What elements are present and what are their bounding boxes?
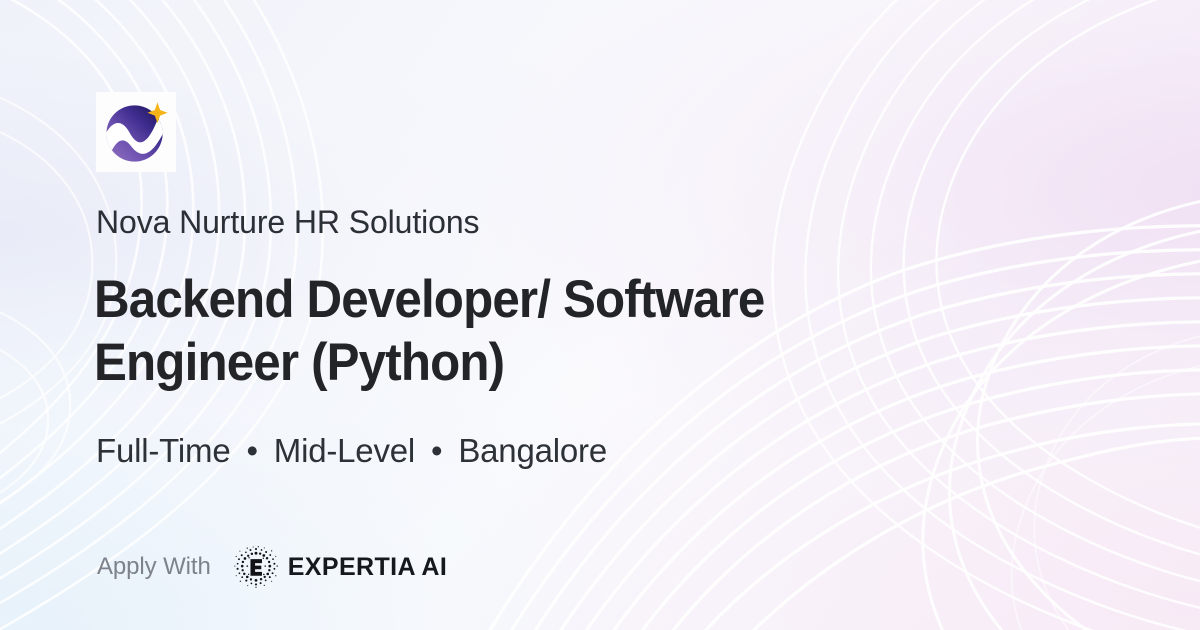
apply-with-label: Apply With [97, 552, 211, 582]
expertia-dotted-e-icon [233, 544, 279, 590]
expertia-brand-name: EXPERTIA AI [288, 552, 448, 582]
meta-separator-1: • [239, 432, 264, 469]
job-title: Backend Developer/ Software Engineer (Py… [94, 268, 931, 394]
job-share-card: Nova Nurture HR Solutions Backend Develo… [0, 0, 1200, 630]
seniority-level: Mid-Level [274, 432, 415, 469]
company-logo-tile [96, 92, 176, 172]
job-location: Bangalore [458, 432, 607, 469]
company-name: Nova Nurture HR Solutions [96, 202, 479, 242]
employment-type: Full-Time [96, 432, 230, 469]
job-meta-line: Full-Time • Mid-Level • Bangalore [96, 430, 607, 472]
meta-separator-2: • [424, 432, 449, 469]
nova-nurture-wave-circle-icon [99, 95, 173, 169]
apply-with-footer[interactable]: Apply With [97, 546, 447, 588]
